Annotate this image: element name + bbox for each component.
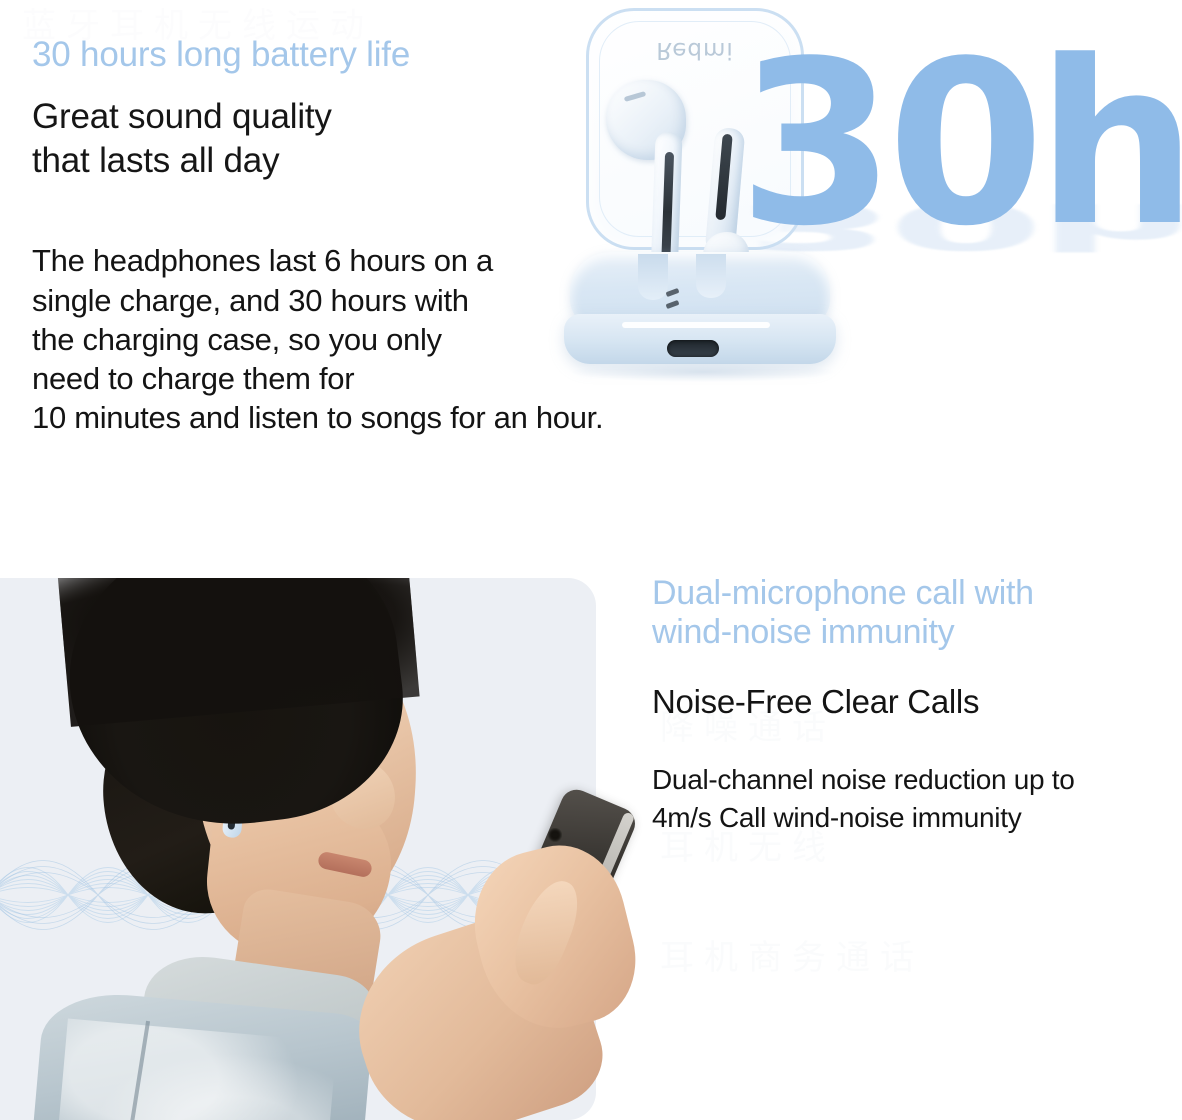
charging-case-base [564,252,836,364]
product-feature-page: 蓝牙耳机无线运动 降噪通话 耳机无线 耳机商务通话 30 hours long … [0,0,1182,1120]
microphone-body-line-1: Dual-channel noise reduction up to [652,761,1182,799]
charging-case-shadow [572,362,834,382]
earbud-left [606,80,724,280]
microphone-eyebrow-line-1: Dual-microphone call with [652,574,1182,613]
microphone-eyebrow: Dual-microphone call with wind-noise imm… [652,574,1182,652]
battery-hero-image: 30h Redmi 30h [548,0,1182,430]
hero-number-30h: 30h [738,48,1182,242]
microphone-body-line-2: 4m/s Call wind-noise immunity [652,799,1182,837]
hand-holding-phone [360,800,760,1120]
phone-camera-lens-1 [548,828,562,842]
microphone-eyebrow-line-2: wind-noise immunity [652,613,1182,652]
charging-case-cradle-right [696,254,726,298]
microphone-copy-block: Dual-microphone call with wind-noise imm… [652,574,1182,837]
charging-case-highlight [622,322,770,328]
microphone-headline: Noise-Free Clear Calls [652,682,1182,722]
microphone-section: Dual-microphone call with wind-noise imm… [0,500,1182,1120]
charging-case-cradle-left [638,254,668,300]
microphone-body-copy: Dual-channel noise reduction up to 4m/s … [652,761,1182,837]
battery-life-section: 30 hours long battery life Great sound q… [0,0,1182,500]
usb-c-port-icon [667,340,719,357]
